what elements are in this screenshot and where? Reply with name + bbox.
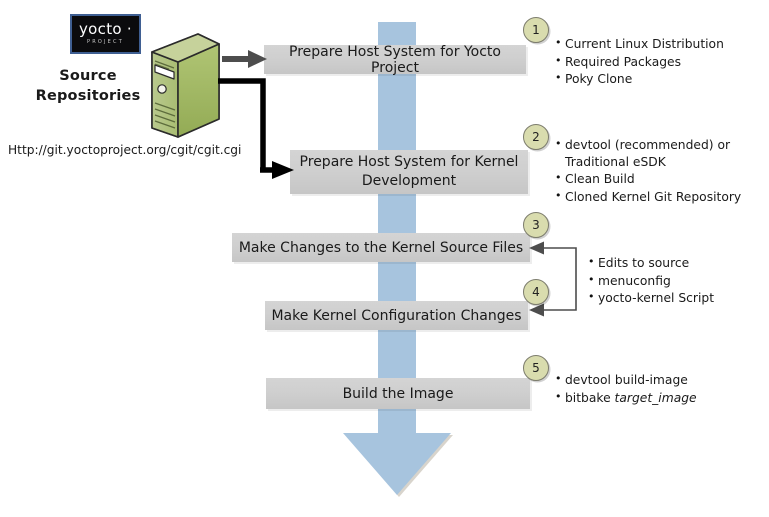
source-repository-url: Http://git.yoctoproject.org/cgit/cgit.cg… xyxy=(8,142,234,158)
list-item: devtool build-image xyxy=(555,372,753,389)
list-item: yocto-kernel Script xyxy=(588,290,756,307)
list-item: bitbake target_image xyxy=(555,390,753,407)
server-icon-outline xyxy=(136,31,228,139)
step-box-make-config-changes[interactable]: Make Kernel Configuration Changes xyxy=(265,301,528,330)
logo-wordmark: yocto · xyxy=(79,22,132,37)
step-1-bullets: Current Linux Distribution Required Pack… xyxy=(543,36,763,89)
source-label-line1: Source xyxy=(33,66,143,86)
flow-arrow-shaft xyxy=(378,22,416,435)
step-2-bullets: devtool (recommended) or Traditional eSD… xyxy=(543,137,765,206)
flow-arrow-head xyxy=(343,433,451,495)
list-item: Required Packages xyxy=(555,54,763,71)
diagram-canvas: yocto · PROJECT xyxy=(0,0,769,517)
source-label-line2: Repositories xyxy=(33,86,143,106)
steps-3-4-bullets: Edits to source menuconfig yocto-kernel … xyxy=(576,255,756,308)
step-number-3: 3 xyxy=(523,212,549,238)
bitbake-command-prefix: bitbake xyxy=(565,391,615,405)
step-box-make-source-changes[interactable]: Make Changes to the Kernel Source Files xyxy=(232,233,530,262)
step-number-4: 4 xyxy=(523,279,549,305)
step-box-prepare-host-kernel[interactable]: Prepare Host System for Kernel Developme… xyxy=(290,150,528,194)
connector-server-to-step1 xyxy=(222,46,270,74)
bitbake-target-placeholder: target_image xyxy=(615,391,697,405)
list-item: Cloned Kernel Git Repository xyxy=(555,189,765,206)
step-box-build-image[interactable]: Build the Image xyxy=(266,378,530,409)
connector-server-to-step2 xyxy=(216,78,296,180)
yocto-project-logo: yocto · PROJECT xyxy=(70,14,141,54)
list-item: menuconfig xyxy=(588,273,756,290)
list-item: Clean Build xyxy=(555,171,765,188)
step-box-prepare-host-yocto[interactable]: Prepare Host System for Yocto Project xyxy=(264,45,526,74)
list-item: Poky Clone xyxy=(555,71,763,88)
list-item: devtool (recommended) or Traditional eSD… xyxy=(555,137,765,170)
logo-subtitle: PROJECT xyxy=(87,38,124,46)
step-5-bullets: devtool build-image bitbake target_image xyxy=(543,372,753,407)
list-item: Current Linux Distribution xyxy=(555,36,763,53)
server-icon xyxy=(136,31,228,139)
list-item: Edits to source xyxy=(588,255,756,272)
source-repositories-label: Source Repositories xyxy=(33,66,143,106)
